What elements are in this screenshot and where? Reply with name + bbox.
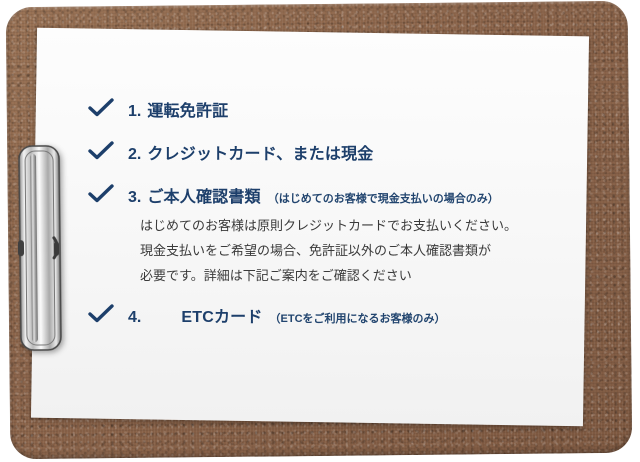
description-paragraph: はじめてのお客様は原則クレジットカードでお支払いください。 現金支払いをご希望の… — [140, 213, 558, 288]
screenshot-stage: 1. 運転免許証 2. クレジットカード、または現金 3. ご本人確認書類 （は… — [0, 0, 640, 462]
list-item-number: 3. — [128, 189, 141, 207]
list-item: 2. クレジットカード、または現金 — [88, 139, 558, 164]
paragraph-line: 必要です。詳細は下記ご案内をご確認ください — [140, 263, 558, 288]
list-item: 1. 運転免許証 — [88, 96, 558, 121]
list-item-title: 運転免許証 — [147, 97, 228, 121]
checkmark-icon — [88, 304, 114, 324]
list-item-note: （はじめてのお客様で現金支払いの場合のみ） — [268, 190, 499, 206]
checkmark-icon — [88, 141, 114, 161]
clipboard-clip-icon — [13, 142, 67, 355]
list-item-note: （ETCをご利用になるお客様のみ） — [270, 310, 446, 326]
list-item-number: 1. — [128, 103, 141, 121]
paragraph-line: はじめてのお客様は原則クレジットカードでお支払いください。 — [140, 213, 558, 238]
list-item-title: クレジットカード、または現金 — [147, 140, 373, 164]
list-item: 3. ご本人確認書類 （はじめてのお客様で現金支払いの場合のみ） — [88, 182, 558, 207]
list-item-title: ご本人確認書類 — [147, 183, 260, 207]
list-item: 4. ETCカード （ETCをご利用になるお客様のみ） — [88, 302, 558, 327]
list-item-number: 2. — [128, 146, 141, 164]
list-item-number: 4. — [128, 309, 141, 327]
paragraph-line: 現金支払いをご希望の場合、免許証以外のご本人確認書類が — [140, 238, 558, 263]
list-item-title: ETCカード — [181, 303, 262, 327]
checklist: 1. 運転免許証 2. クレジットカード、または現金 3. ご本人確認書類 （は… — [88, 96, 558, 327]
checkmark-icon — [88, 98, 114, 118]
checkmark-icon — [88, 184, 114, 204]
